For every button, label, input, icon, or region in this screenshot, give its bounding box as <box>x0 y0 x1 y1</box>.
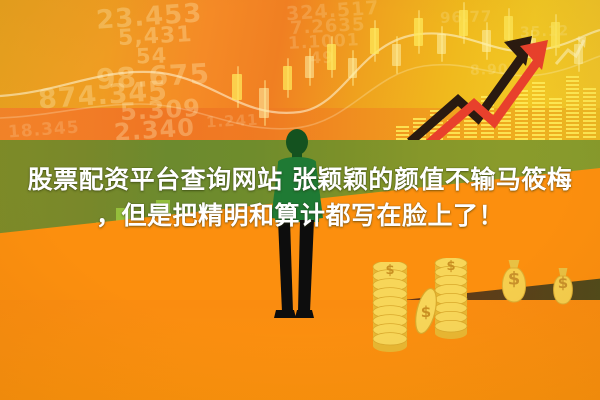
headline-line-2: ，但是把精明和算计都写在脸上了！ <box>0 198 600 234</box>
coin-dollar-sign: $ <box>385 263 394 278</box>
tilted-coin: $ <box>413 286 439 336</box>
money-bag: $ <box>550 266 584 308</box>
coin-dollar-sign: $ <box>421 303 431 321</box>
trend-arrow-red <box>426 40 548 146</box>
coin-stack: $ <box>370 262 410 355</box>
banner-image: 23.4535,4315498.675874.3455.3092.340324.… <box>0 0 600 400</box>
headline-line-1: 股票配资平台查询网站 张颖颖的颜值不输马筱梅 <box>0 162 600 198</box>
money-bag: $ <box>498 258 538 306</box>
headline: 股票配资平台查询网站 张颖颖的颜值不输马筱梅 ，但是把精明和算计都写在脸上了！ <box>0 162 600 234</box>
bag-dollar-sign: $ <box>558 274 568 292</box>
small-up-arrow-icon <box>552 34 588 68</box>
coin-dollar-sign: $ <box>446 259 455 274</box>
bag-dollar-sign: $ <box>508 269 521 290</box>
